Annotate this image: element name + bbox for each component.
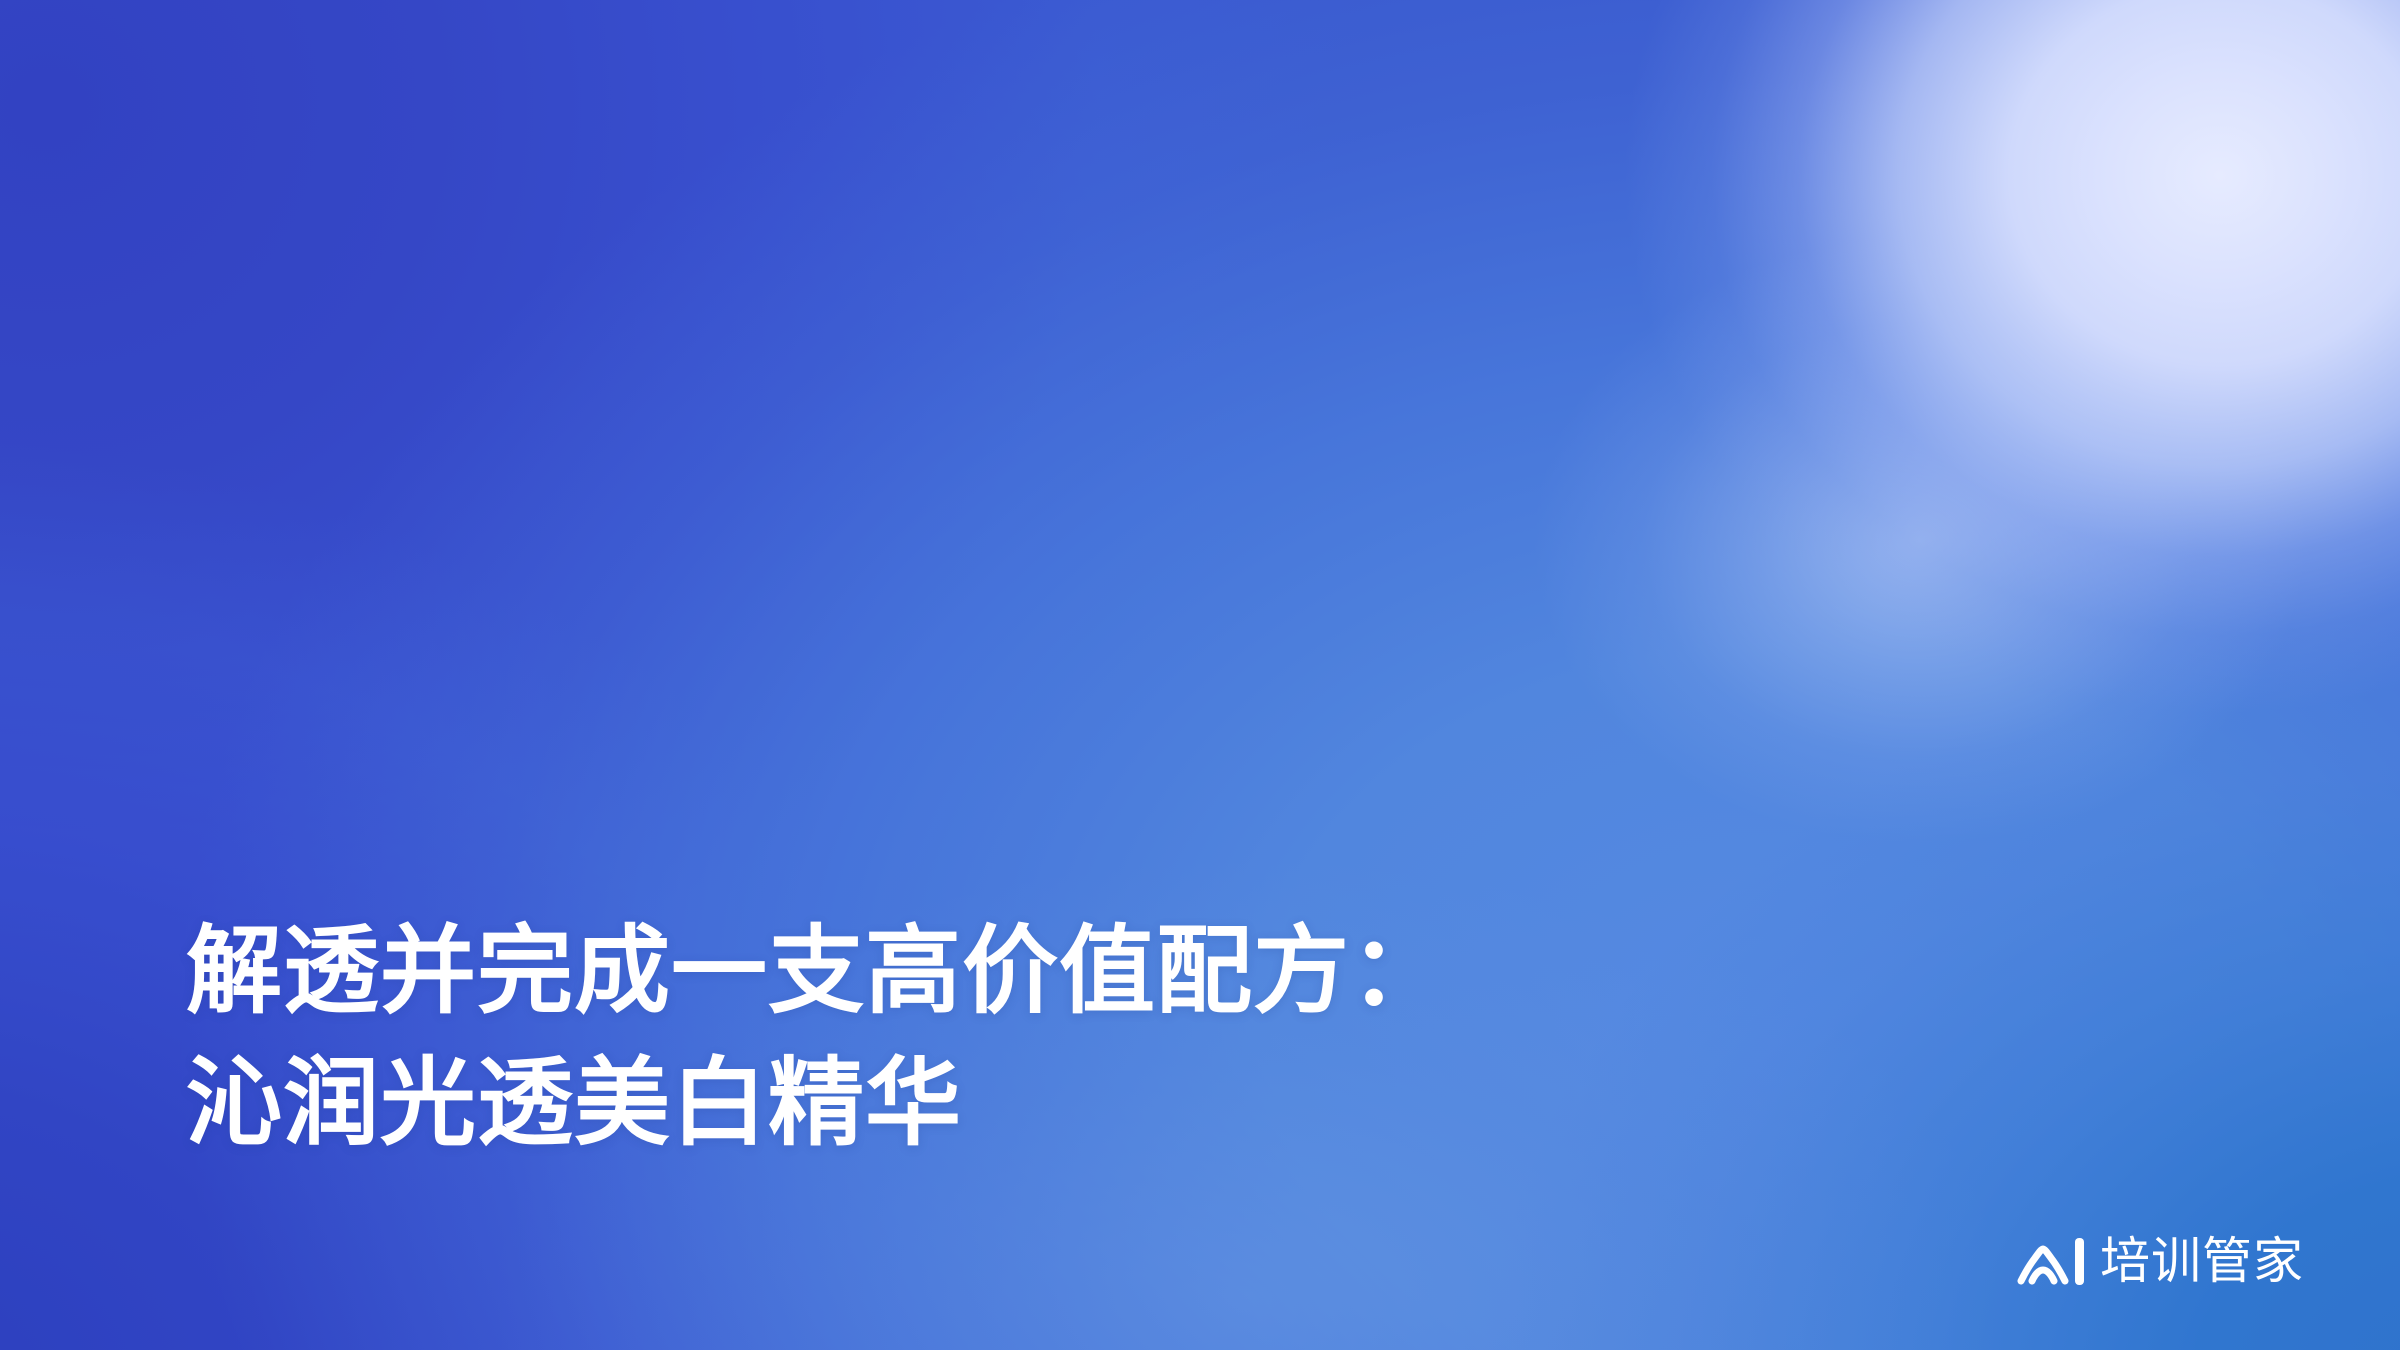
- ai-peak-logo-icon: [2015, 1236, 2071, 1286]
- headline-line-2: 沁润光透美白精华: [186, 1038, 1886, 1170]
- slide-canvas: 解透并完成一支高价值配方：沁润光透美白精华 培训管家: [0, 0, 2400, 1350]
- slide-headline: 解透并完成一支高价值配方：沁润光透美白精华: [186, 642, 1886, 1350]
- headline-line-1: 解透并完成一支高价值配方：: [186, 906, 1886, 1038]
- brand-name-label: 培训管家: [2100, 1236, 2304, 1286]
- brand-divider-bar: [2075, 1238, 2084, 1285]
- brand-lockup: 培训管家: [2015, 1232, 2304, 1290]
